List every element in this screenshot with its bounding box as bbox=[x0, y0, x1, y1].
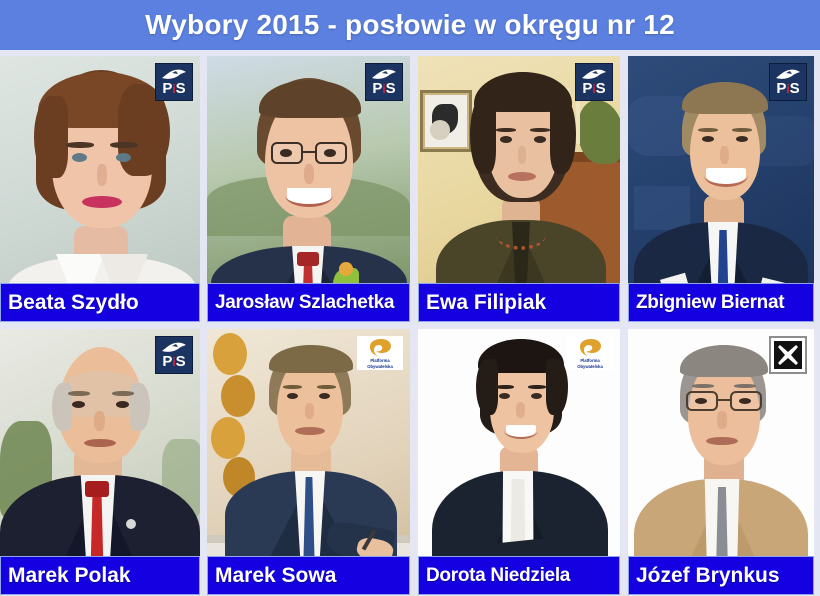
candidate-name-plate: Ewa Filipiak bbox=[418, 283, 620, 322]
candidate-name-plate: Beata Szydło bbox=[0, 283, 200, 322]
candidate-name-plate: Jarosław Szlachetka bbox=[207, 283, 410, 322]
pis-letters: PiS bbox=[162, 81, 185, 96]
candidate-name-plate: Marek Polak bbox=[0, 556, 200, 595]
po-swoosh-icon bbox=[367, 338, 393, 357]
candidate-row-2: PiS Marek Polak bbox=[0, 323, 820, 596]
candidate-card-dorota-niedziela[interactable]: Platforma Obywatelska Dorota Niedziela bbox=[418, 329, 620, 595]
x-mark-icon bbox=[777, 344, 799, 366]
candidate-name: Jarosław Szlachetka bbox=[208, 292, 394, 314]
header-bar: Wybory 2015 - posłowie w okręgu nr 12 bbox=[0, 0, 820, 50]
candidate-grid: PiS Beata Szydło bbox=[0, 50, 820, 596]
candidate-card-jozef-brynkus[interactable]: Józef Brynkus bbox=[628, 329, 814, 595]
po-swoosh-icon bbox=[577, 338, 603, 357]
candidate-name: Marek Sowa bbox=[208, 564, 336, 588]
candidate-name-plate: Józef Brynkus bbox=[628, 556, 814, 595]
candidate-name-plate: Zbigniew Biernat bbox=[628, 283, 814, 322]
candidate-name: Józef Brynkus bbox=[629, 564, 780, 588]
po-caption: Platforma Obywatelska bbox=[577, 358, 603, 369]
pis-letters: PiS bbox=[372, 81, 395, 96]
pis-logo: PiS bbox=[155, 336, 193, 374]
candidate-card-beata-szydlo[interactable]: PiS Beata Szydło bbox=[0, 56, 200, 322]
page-title: Wybory 2015 - posłowie w okręgu nr 12 bbox=[145, 9, 675, 41]
po-logo: Platforma Obywatelska bbox=[357, 336, 403, 370]
pis-letters: PiS bbox=[582, 81, 605, 96]
election-infographic: Wybory 2015 - posłowie w okręgu nr 12 bbox=[0, 0, 820, 596]
candidate-name-plate: Marek Sowa bbox=[207, 556, 410, 595]
pis-logo: PiS bbox=[155, 63, 193, 101]
candidate-card-ewa-filipiak[interactable]: PiS Ewa Filipiak bbox=[418, 56, 620, 322]
pis-logo: PiS bbox=[575, 63, 613, 101]
kukiz15-logo bbox=[769, 336, 807, 374]
candidate-name: Zbigniew Biernat bbox=[629, 292, 784, 314]
candidate-name: Marek Polak bbox=[1, 564, 131, 588]
candidate-card-marek-sowa[interactable]: Platforma Obywatelska Marek Sowa bbox=[207, 329, 410, 595]
candidate-name: Beata Szydło bbox=[1, 291, 139, 315]
po-caption: Platforma Obywatelska bbox=[367, 358, 393, 369]
candidate-card-zbigniew-biernat[interactable]: PiS Zbigniew Biernat bbox=[628, 56, 814, 322]
candidate-card-jaroslaw-szlachetka[interactable]: PiS Jarosław Szlachetka bbox=[207, 56, 410, 322]
candidate-name: Ewa Filipiak bbox=[419, 291, 546, 315]
pis-logo: PiS bbox=[365, 63, 403, 101]
candidate-row-1: PiS Beata Szydło bbox=[0, 50, 820, 323]
pis-logo: PiS bbox=[769, 63, 807, 101]
candidate-card-marek-polak[interactable]: PiS Marek Polak bbox=[0, 329, 200, 595]
po-logo: Platforma Obywatelska bbox=[567, 336, 613, 370]
candidate-name-plate: Dorota Niedziela bbox=[418, 556, 620, 595]
pis-letters: PiS bbox=[162, 354, 185, 369]
candidate-name: Dorota Niedziela bbox=[419, 565, 570, 587]
pis-letters: PiS bbox=[776, 81, 799, 96]
kukiz15-square bbox=[774, 341, 802, 369]
